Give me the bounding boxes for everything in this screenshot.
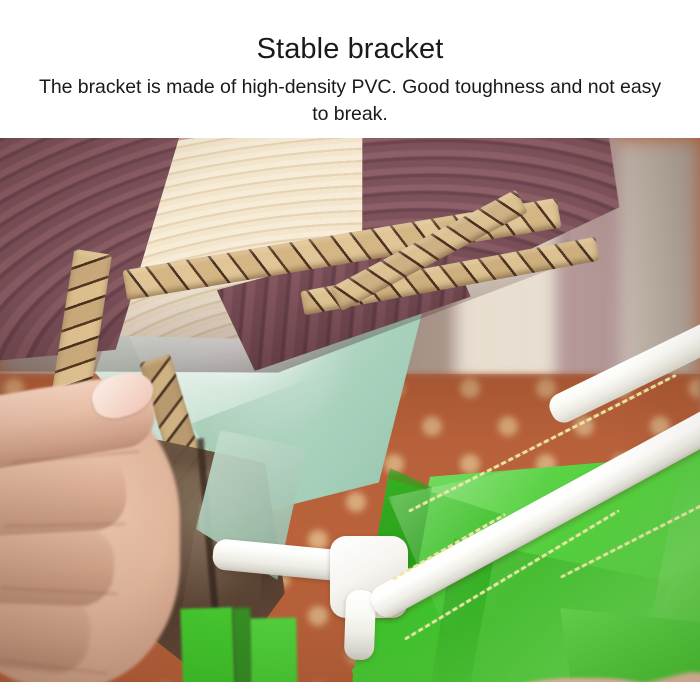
page-subtitle: The bracket is made of high-density PVC.… <box>0 74 700 128</box>
product-photo <box>0 138 700 682</box>
green-tent-leg-left <box>180 607 239 682</box>
product-detail-page: Stable bracket The bracket is made of hi… <box>0 0 700 700</box>
header-text-block: Stable bracket The bracket is made of hi… <box>0 0 700 138</box>
photo-footer-spacer <box>0 682 700 700</box>
green-tent-leg-middle <box>250 618 300 682</box>
page-title: Stable bracket <box>0 30 700 68</box>
